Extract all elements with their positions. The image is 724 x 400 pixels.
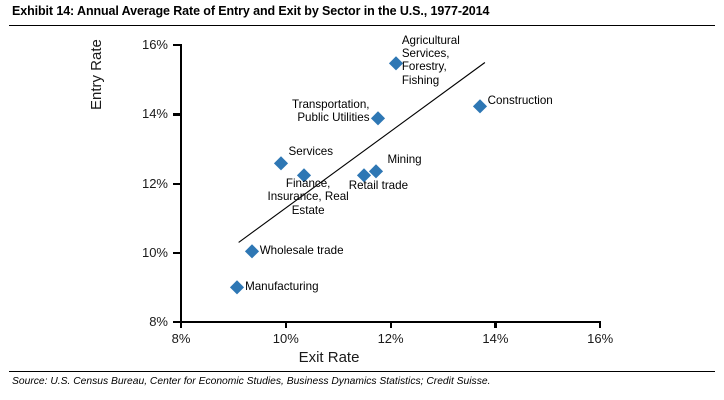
source-divider (9, 371, 715, 372)
x-axis-tick (285, 321, 287, 328)
scatter-chart: 8%10%12%14%16% 8%10%12%14%16% Agricultur… (0, 0, 724, 400)
data-point-label: Agricultural Services, Forestry, Fishing (402, 34, 460, 88)
x-axis-tick-label: 16% (573, 331, 627, 346)
x-axis-title-text: Exit Rate (299, 349, 360, 366)
y-axis-tick-label: 16% (122, 37, 168, 52)
exhibit-panel: Exhibit 14: Annual Average Rate of Entry… (0, 0, 724, 400)
x-axis-title: Exit Rate (0, 349, 724, 366)
data-point-label: Construction (488, 94, 553, 107)
y-axis-tick (173, 183, 180, 185)
data-point-label: Mining (387, 153, 421, 166)
data-point-label: Transportation, Public Utilities (292, 98, 370, 125)
data-point-label: Manufacturing (245, 280, 318, 293)
x-axis-tick (599, 321, 601, 328)
y-axis-tick-label: 10% (122, 245, 168, 260)
y-axis-tick-label: 8% (122, 314, 168, 329)
y-axis-tick (173, 321, 180, 323)
y-axis-tick (173, 252, 180, 254)
data-point-label: Wholesale trade (260, 244, 344, 257)
data-point-label: Retail trade (308, 179, 448, 192)
y-axis-title: Entry Rate (88, 39, 105, 110)
x-axis-tick (494, 321, 496, 328)
source-note: Source: U.S. Census Bureau, Center for E… (12, 376, 490, 387)
x-axis-tick-label: 8% (154, 331, 208, 346)
y-axis-tick-label: 14% (122, 106, 168, 121)
y-axis-tick (173, 44, 180, 46)
y-axis-tick (173, 113, 180, 115)
x-axis-tick (180, 321, 182, 328)
x-axis-tick (390, 321, 392, 328)
data-point-label: Services (289, 145, 333, 158)
y-axis-tick-label: 12% (122, 176, 168, 191)
x-axis-tick-label: 14% (468, 331, 522, 346)
x-axis-tick-label: 12% (364, 331, 418, 346)
x-axis-tick-label: 10% (259, 331, 313, 346)
